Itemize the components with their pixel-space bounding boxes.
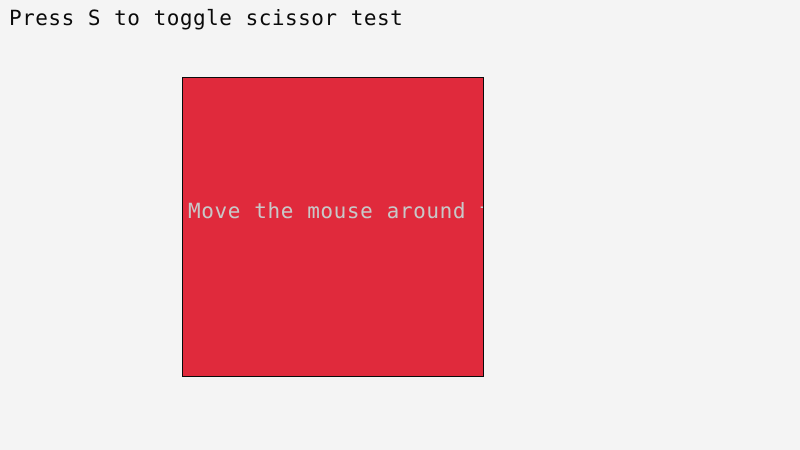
demo-canvas[interactable]: Press S to toggle scissor test Move the … bbox=[0, 0, 800, 450]
instruction-text: Press S to toggle scissor test bbox=[9, 6, 403, 30]
scissor-rectangle[interactable]: Move the mouse around to r bbox=[182, 77, 484, 377]
clipped-message-text: Move the mouse around to r bbox=[188, 199, 483, 223]
scissor-clip-region: Move the mouse around to r bbox=[183, 78, 483, 376]
